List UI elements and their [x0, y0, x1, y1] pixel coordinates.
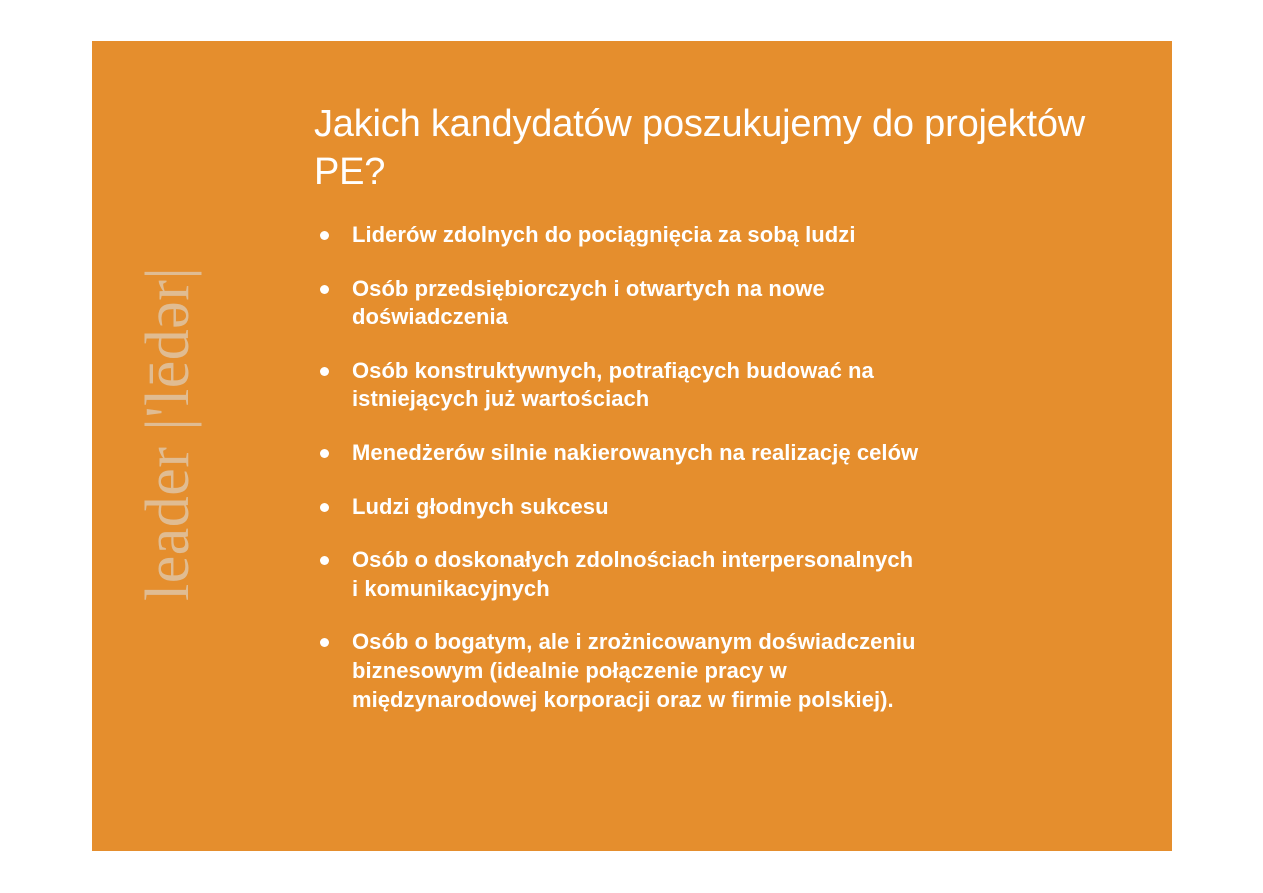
- brand-logo: leader |'lēdər|: [92, 41, 232, 851]
- list-item: Osób o doskonałych zdolnościach interper…: [320, 546, 1120, 603]
- list-item: Osób konstruktywnych, potrafiących budow…: [320, 357, 1120, 414]
- list-item-text: Osób konstruktywnych, potrafiących budow…: [352, 357, 1120, 414]
- bullet-dot-icon: [320, 503, 329, 512]
- bullet-dot-icon: [320, 556, 329, 565]
- bullet-dot-icon: [320, 285, 329, 294]
- bullet-dot-icon: [320, 367, 329, 376]
- list-item: Osób o bogatym, ale i zrożnicowanym dośw…: [320, 628, 1120, 714]
- bullet-dot-icon: [320, 231, 329, 240]
- list-item-text: Osób przedsiębiorczych i otwartych na no…: [352, 275, 1120, 332]
- brand-logo-text: leader |'lēdər|: [128, 41, 208, 601]
- bullet-dot-icon: [320, 449, 329, 458]
- slide-root: leader |'lēdər| Jakich kandydatów poszuk…: [0, 0, 1263, 893]
- slide-content: Jakich kandydatów poszukujemy do projekt…: [314, 41, 1172, 851]
- slide-title: Jakich kandydatów poszukujemy do projekt…: [314, 101, 1124, 197]
- list-item-text: Ludzi głodnych sukcesu: [352, 493, 1120, 522]
- list-item-text: Menedżerów silnie nakierowanych na reali…: [352, 439, 1120, 468]
- list-item-text: Osób o doskonałych zdolnościach interper…: [352, 546, 1120, 603]
- list-item: Menedżerów silnie nakierowanych na reali…: [320, 439, 1120, 468]
- list-item-text: Liderów zdolnych do pociągnięcia za sobą…: [352, 221, 1120, 250]
- list-item-text: Osób o bogatym, ale i zrożnicowanym dośw…: [352, 628, 1120, 714]
- bullet-dot-icon: [320, 638, 329, 647]
- list-item: Liderów zdolnych do pociągnięcia za sobą…: [320, 221, 1120, 250]
- presentation-slide: leader |'lēdər| Jakich kandydatów poszuk…: [92, 41, 1172, 851]
- bullet-list: Liderów zdolnych do pociągnięcia za sobą…: [320, 221, 1120, 714]
- list-item: Ludzi głodnych sukcesu: [320, 493, 1120, 522]
- list-item: Osób przedsiębiorczych i otwartych na no…: [320, 275, 1120, 332]
